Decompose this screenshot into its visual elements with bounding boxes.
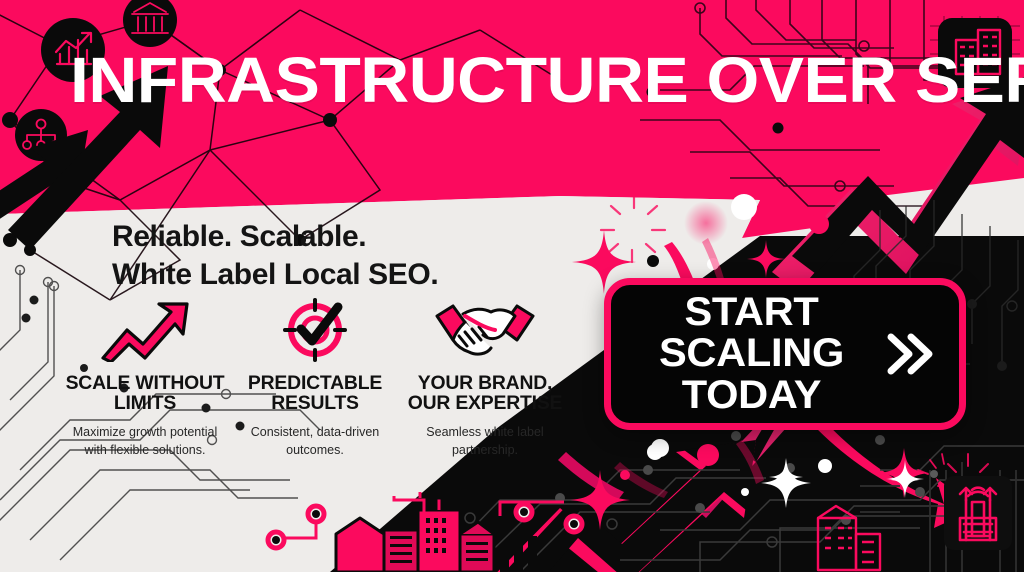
feature-description: Consistent, data-driven outcomes. bbox=[232, 424, 398, 460]
start-scaling-today-button[interactable]: START SCALING TODAY bbox=[604, 278, 966, 430]
feature-item-predictable-results: PREDICTABLE RESULTS Consistent, data-dri… bbox=[232, 300, 398, 460]
confetti-icon bbox=[741, 488, 749, 496]
subheadline-line-1: Reliable. Scalable. bbox=[112, 218, 542, 256]
handshake-icon bbox=[429, 300, 541, 362]
smart-building-signal-icon bbox=[944, 476, 1012, 550]
confetti-icon bbox=[651, 439, 669, 457]
double-chevron-right-icon bbox=[885, 331, 937, 377]
feature-title: PREDICTABLE RESULTS bbox=[230, 374, 399, 414]
subheadline-line-2: White Label Local SEO. bbox=[112, 256, 542, 294]
confetti-icon bbox=[930, 470, 938, 478]
feature-item-scale-without-limits: SCALE WITHOUT LIMITS Maximize growth pot… bbox=[62, 300, 228, 460]
target-check-icon bbox=[278, 300, 352, 362]
cta-label: START SCALING TODAY bbox=[629, 292, 873, 417]
subheadline: Reliable. Scalable. White Label Local SE… bbox=[112, 218, 542, 295]
feature-title: SCALE WITHOUT LIMITS bbox=[60, 374, 229, 414]
feature-list: SCALE WITHOUT LIMITS Maximize growth pot… bbox=[62, 300, 582, 460]
growth-arrow-icon bbox=[99, 300, 191, 362]
feature-description: Seamless white label partnership. bbox=[402, 424, 568, 460]
page-title: INFRASTRUCTURE OVER SERVICES bbox=[70, 48, 1024, 112]
promo-banner: INFRASTRUCTURE OVER SERVICES Reliable. S… bbox=[0, 0, 1024, 572]
feature-description: Maximize growth potential with flexible … bbox=[62, 424, 228, 460]
feature-item-your-brand-our-expertise: YOUR BRAND, OUR EXPERTISE Seamless white… bbox=[402, 300, 568, 460]
feature-title: YOUR BRAND, OUR EXPERTISE bbox=[400, 374, 569, 414]
confetti-icon bbox=[818, 459, 832, 473]
